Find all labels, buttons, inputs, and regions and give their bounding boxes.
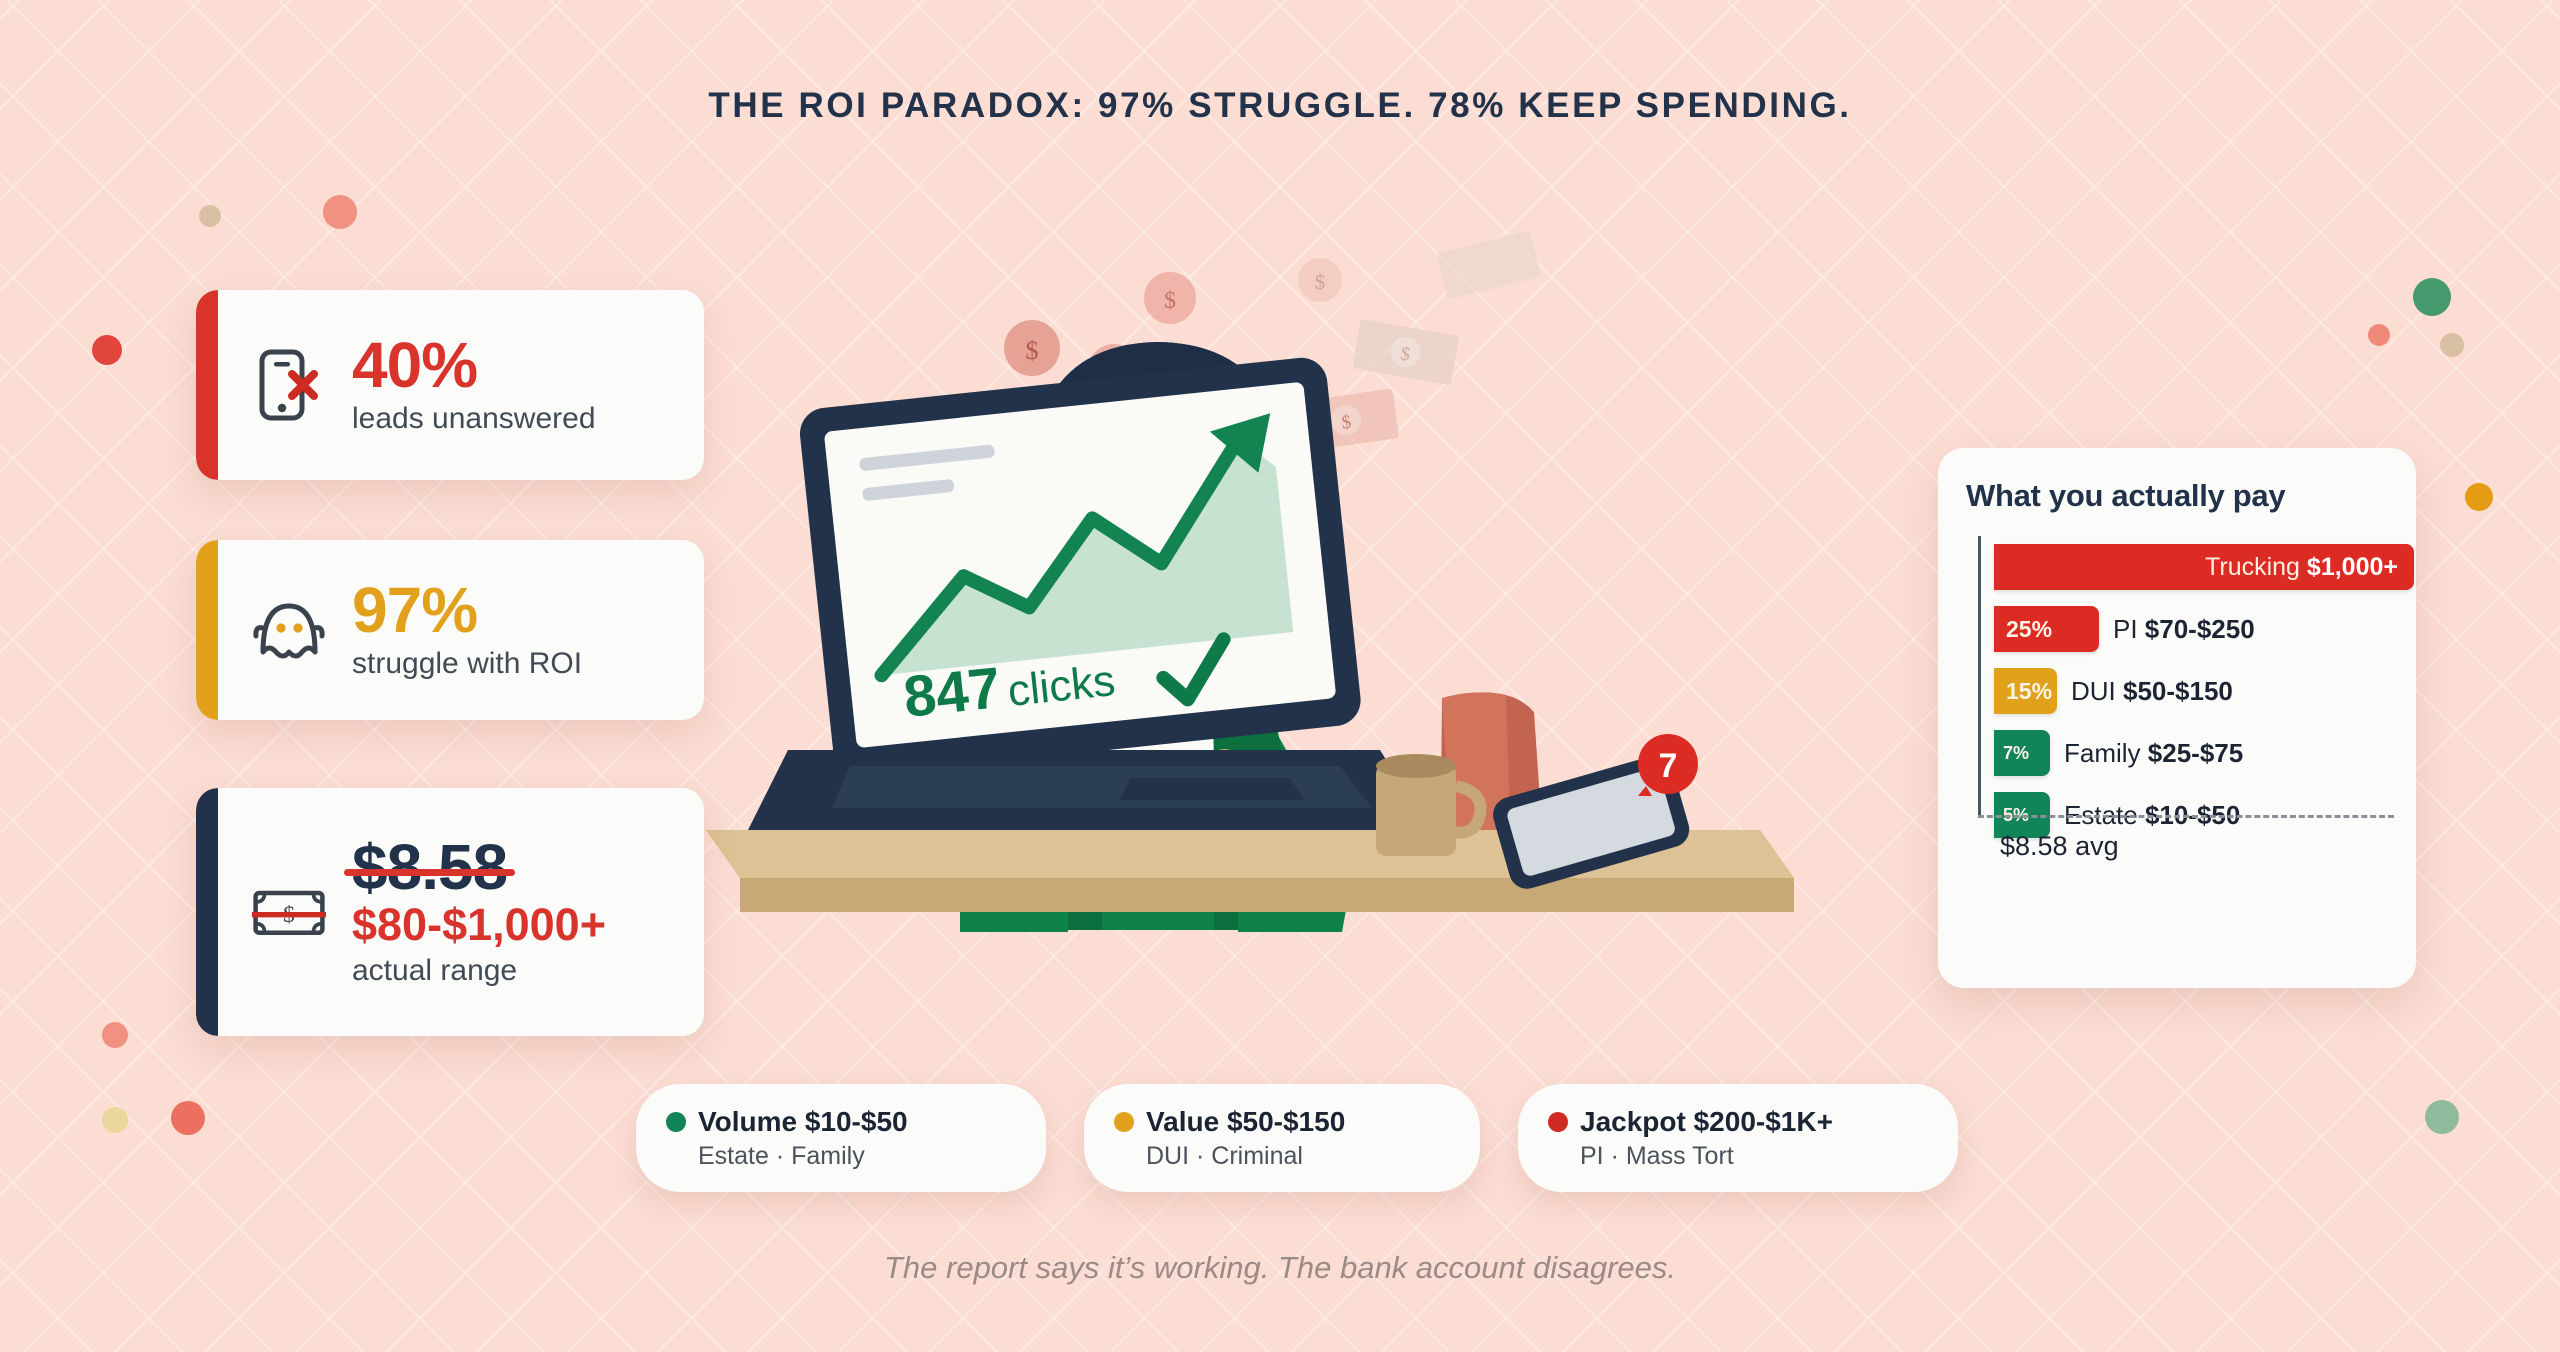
svg-text:$: $ <box>1164 288 1176 314</box>
chart-title: What you actually pay <box>1966 478 2388 514</box>
bar-rows-container: Trucking $1,000+25%PI $70-$25015%DUI $50… <box>1980 536 2388 846</box>
stat-card-leads-unanswered[interactable]: 40% leads unanswered <box>196 290 704 480</box>
legend-dot-icon <box>1114 1112 1134 1132</box>
legend-pill-subtitle: PI · Mass Tort <box>1580 1142 1924 1171</box>
bar-percent-label: 25% <box>1994 616 2052 643</box>
stat-card-accent-bar <box>196 788 218 1036</box>
what-you-actually-pay-panel: What you actually pay Trucking $1,000+25… <box>1938 448 2416 988</box>
decorative-dot <box>2413 278 2451 316</box>
bar-outside-label: DUI $50-$150 <box>2071 676 2233 707</box>
decorative-dot <box>171 1101 205 1135</box>
bar-row: 25%PI $70-$250 <box>1980 598 2388 660</box>
infographic-canvas: THE ROI PARADOX: 97% STRUGGLE. 78% KEEP … <box>0 0 2560 1352</box>
decorative-dot <box>92 335 122 365</box>
stat-card-struggle-with-roi[interactable]: 97% struggle with ROI <box>196 540 704 720</box>
legend-pill-title: Volume $10-$50 <box>698 1106 908 1138</box>
bar-family: 7% <box>1994 730 2050 776</box>
stat-value: 97% <box>352 579 680 642</box>
chart-average-label: $8.58 avg <box>2000 831 2119 862</box>
legend-pill-subtitle: Estate · Family <box>698 1142 1012 1171</box>
notification-badge-count: 7 <box>1659 747 1678 785</box>
decorative-dot <box>102 1107 128 1133</box>
stat-card-accent-bar <box>196 540 218 720</box>
stat-label: leads unanswered <box>352 402 680 436</box>
legend-pill-value[interactable]: Value $50-$150 DUI · Criminal <box>1084 1084 1480 1192</box>
legend-pill-title: Jackpot $200-$1K+ <box>1580 1106 1833 1138</box>
bar-chart: Trucking $1,000+25%PI $70-$25015%DUI $50… <box>1966 536 2388 846</box>
bar-pi: 25% <box>1994 606 2099 652</box>
bar-inside-label: Trucking $1,000+ <box>2205 553 2414 582</box>
stat-card-actual-range[interactable]: $ $8.58 $80-$1,000+ actual range <box>196 788 704 1036</box>
legend-pill-volume[interactable]: Volume $10-$50 Estate · Family <box>636 1084 1046 1192</box>
legend-pill-title: Value $50-$150 <box>1146 1106 1345 1138</box>
bar-dui: 15% <box>1994 668 2057 714</box>
svg-text:$: $ <box>1026 336 1039 365</box>
strikethrough-line <box>344 869 515 876</box>
bar-trucking: Trucking $1,000+ <box>1994 544 2414 590</box>
stat-value-range: $80-$1,000+ <box>352 901 680 948</box>
bar-outside-label: Family $25-$75 <box>2064 738 2243 769</box>
phone-missed-call-icon <box>252 348 326 422</box>
bar-percent-label: 15% <box>1994 678 2052 705</box>
decorative-dot <box>2425 1100 2459 1134</box>
laptop: 847 clicks <box>748 355 1430 830</box>
decorative-dot <box>102 1022 128 1048</box>
bar-percent-label: 7% <box>1994 743 2029 764</box>
stat-value: 40% <box>352 334 680 397</box>
chart-baseline-dashed <box>1978 815 2394 818</box>
decorative-dot <box>2368 324 2390 346</box>
ghost-icon <box>252 598 326 662</box>
decorative-dot <box>2465 483 2493 511</box>
legend-pill-jackpot[interactable]: Jackpot $200-$1K+ PI · Mass Tort <box>1518 1084 1958 1192</box>
decorative-dot <box>323 195 357 229</box>
banknote-crossed-icon: $ <box>252 883 326 941</box>
legend-pill-subtitle: DUI · Criminal <box>1146 1142 1446 1171</box>
legend-dot-icon <box>666 1112 686 1132</box>
svg-text:$: $ <box>1315 270 1326 294</box>
legend-pill-head: Jackpot $200-$1K+ <box>1548 1106 1924 1138</box>
struck-price-wrapper: $8.58 <box>352 836 507 899</box>
desk-scene-illustration: $ $ $ $ $ $ $ <box>700 230 1960 1070</box>
legend-dot-icon <box>1548 1112 1568 1132</box>
laptop-metric-value: 847 <box>901 655 1004 730</box>
bar-row: Trucking $1,000+ <box>1980 536 2388 598</box>
stat-card-accent-bar <box>196 290 218 480</box>
legend-pill-head: Volume $10-$50 <box>666 1106 1012 1138</box>
bar-outside-label: PI $70-$250 <box>2113 614 2255 645</box>
bar-row: 7%Family $25-$75 <box>1980 722 2388 784</box>
bar-row: 15%DUI $50-$150 <box>1980 660 2388 722</box>
stat-label: actual range <box>352 954 680 988</box>
stat-value-struck: $8.58 <box>352 831 507 903</box>
page-title: THE ROI PARADOX: 97% STRUGGLE. 78% KEEP … <box>0 86 2560 126</box>
decorative-dot <box>2440 333 2464 357</box>
footer-caption: The report says it’s working. The bank a… <box>0 1250 2560 1286</box>
legend-pill-head: Value $50-$150 <box>1114 1106 1446 1138</box>
decorative-dot <box>199 205 221 227</box>
stat-label: struggle with ROI <box>352 647 680 681</box>
